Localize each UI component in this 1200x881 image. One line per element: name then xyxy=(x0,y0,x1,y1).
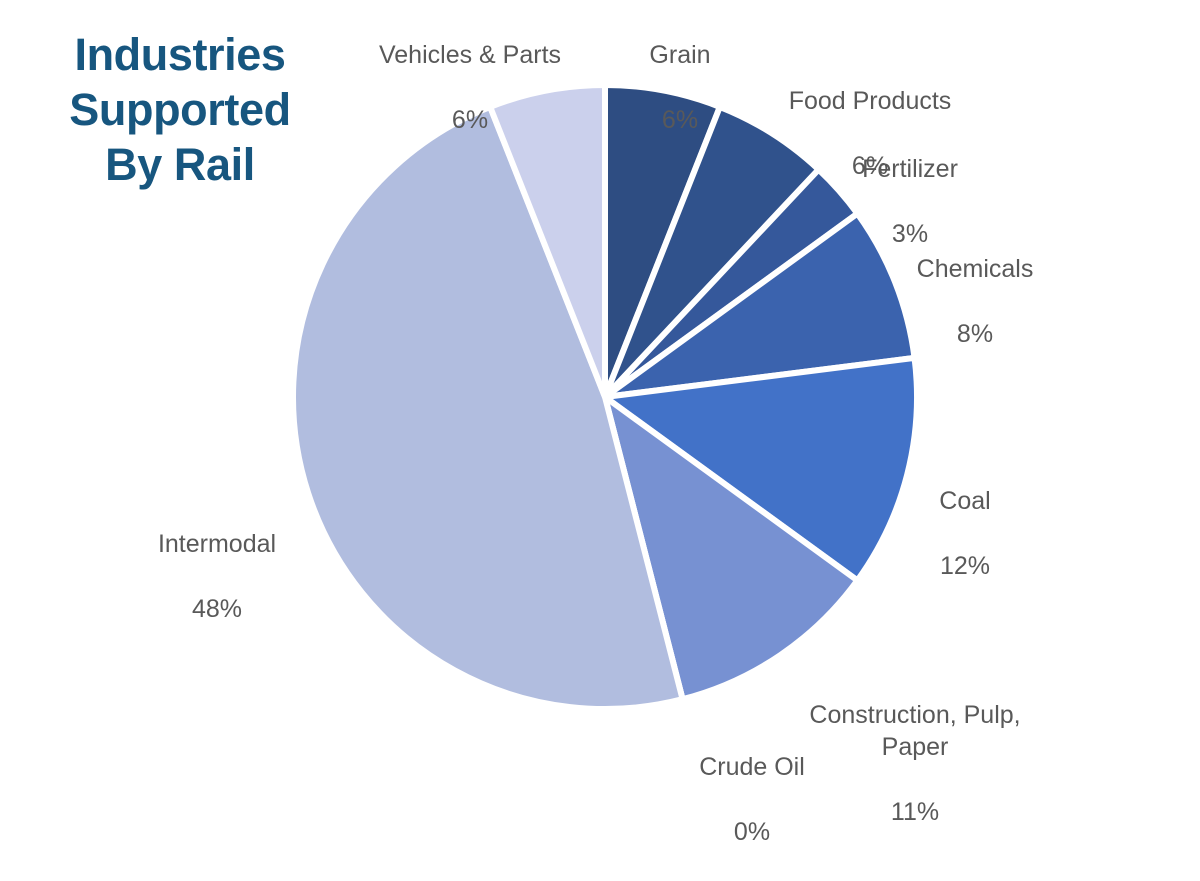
pie-label-coal-name: Coal xyxy=(895,485,1035,518)
pie-label-vehicles: Vehicles & Parts 6% xyxy=(340,6,600,169)
pie-label-fertilizer-name: Fertilizer xyxy=(820,153,1000,186)
pie-label-intermodal: Intermodal 48% xyxy=(128,495,306,658)
pie-label-coal: Coal 12% xyxy=(895,452,1035,615)
pie-label-coal-value: 12% xyxy=(895,550,1035,583)
pie-label-vehicles-value: 6% xyxy=(340,104,600,137)
pie-label-crude-oil-name: Crude Oil xyxy=(672,751,832,784)
pie-label-intermodal-name: Intermodal xyxy=(128,528,306,561)
pie-label-crude-oil-value: 0% xyxy=(672,816,832,849)
pie-label-food-products-name: Food Products xyxy=(755,85,985,118)
chart-canvas: Industries Supported By Rail Vehicles & … xyxy=(0,0,1200,800)
pie-label-intermodal-value: 48% xyxy=(128,593,306,626)
pie-label-grain-name: Grain xyxy=(610,39,750,72)
pie-label-grain: Grain 6% xyxy=(610,6,750,169)
pie-label-crude-oil: Crude Oil 0% xyxy=(672,718,832,881)
pie-label-grain-value: 6% xyxy=(610,104,750,137)
pie-label-chemicals-name: Chemicals xyxy=(880,253,1070,286)
pie-label-chemicals-value: 8% xyxy=(880,318,1070,351)
pie-label-chemicals: Chemicals 8% xyxy=(880,220,1070,383)
pie-label-vehicles-name: Vehicles & Parts xyxy=(340,39,600,72)
